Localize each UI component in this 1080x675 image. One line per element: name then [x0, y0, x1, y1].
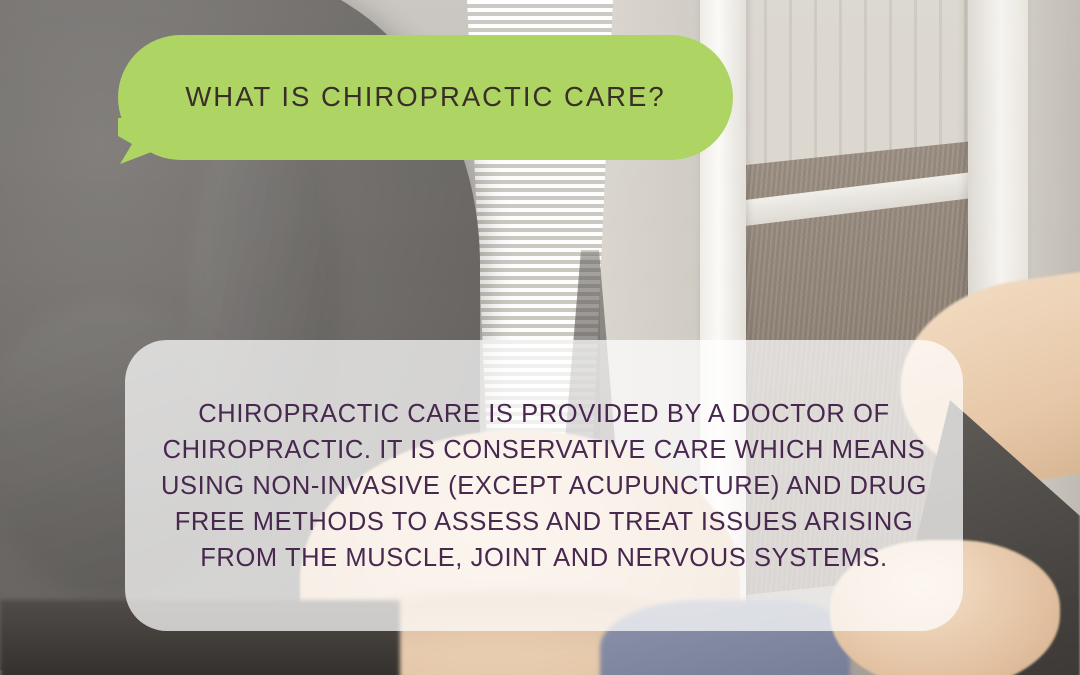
body-text: CHIROPRACTIC CARE IS PROVIDED BY A DOCTO…: [125, 396, 963, 576]
body-text-panel: CHIROPRACTIC CARE IS PROVIDED BY A DOCTO…: [125, 340, 963, 631]
speech-bubble: WHAT IS CHIROPRACTIC CARE?: [118, 35, 733, 160]
infographic-card: WHAT IS CHIROPRACTIC CARE? CHIROPRACTIC …: [0, 0, 1080, 675]
heading-text: WHAT IS CHIROPRACTIC CARE?: [185, 81, 665, 115]
